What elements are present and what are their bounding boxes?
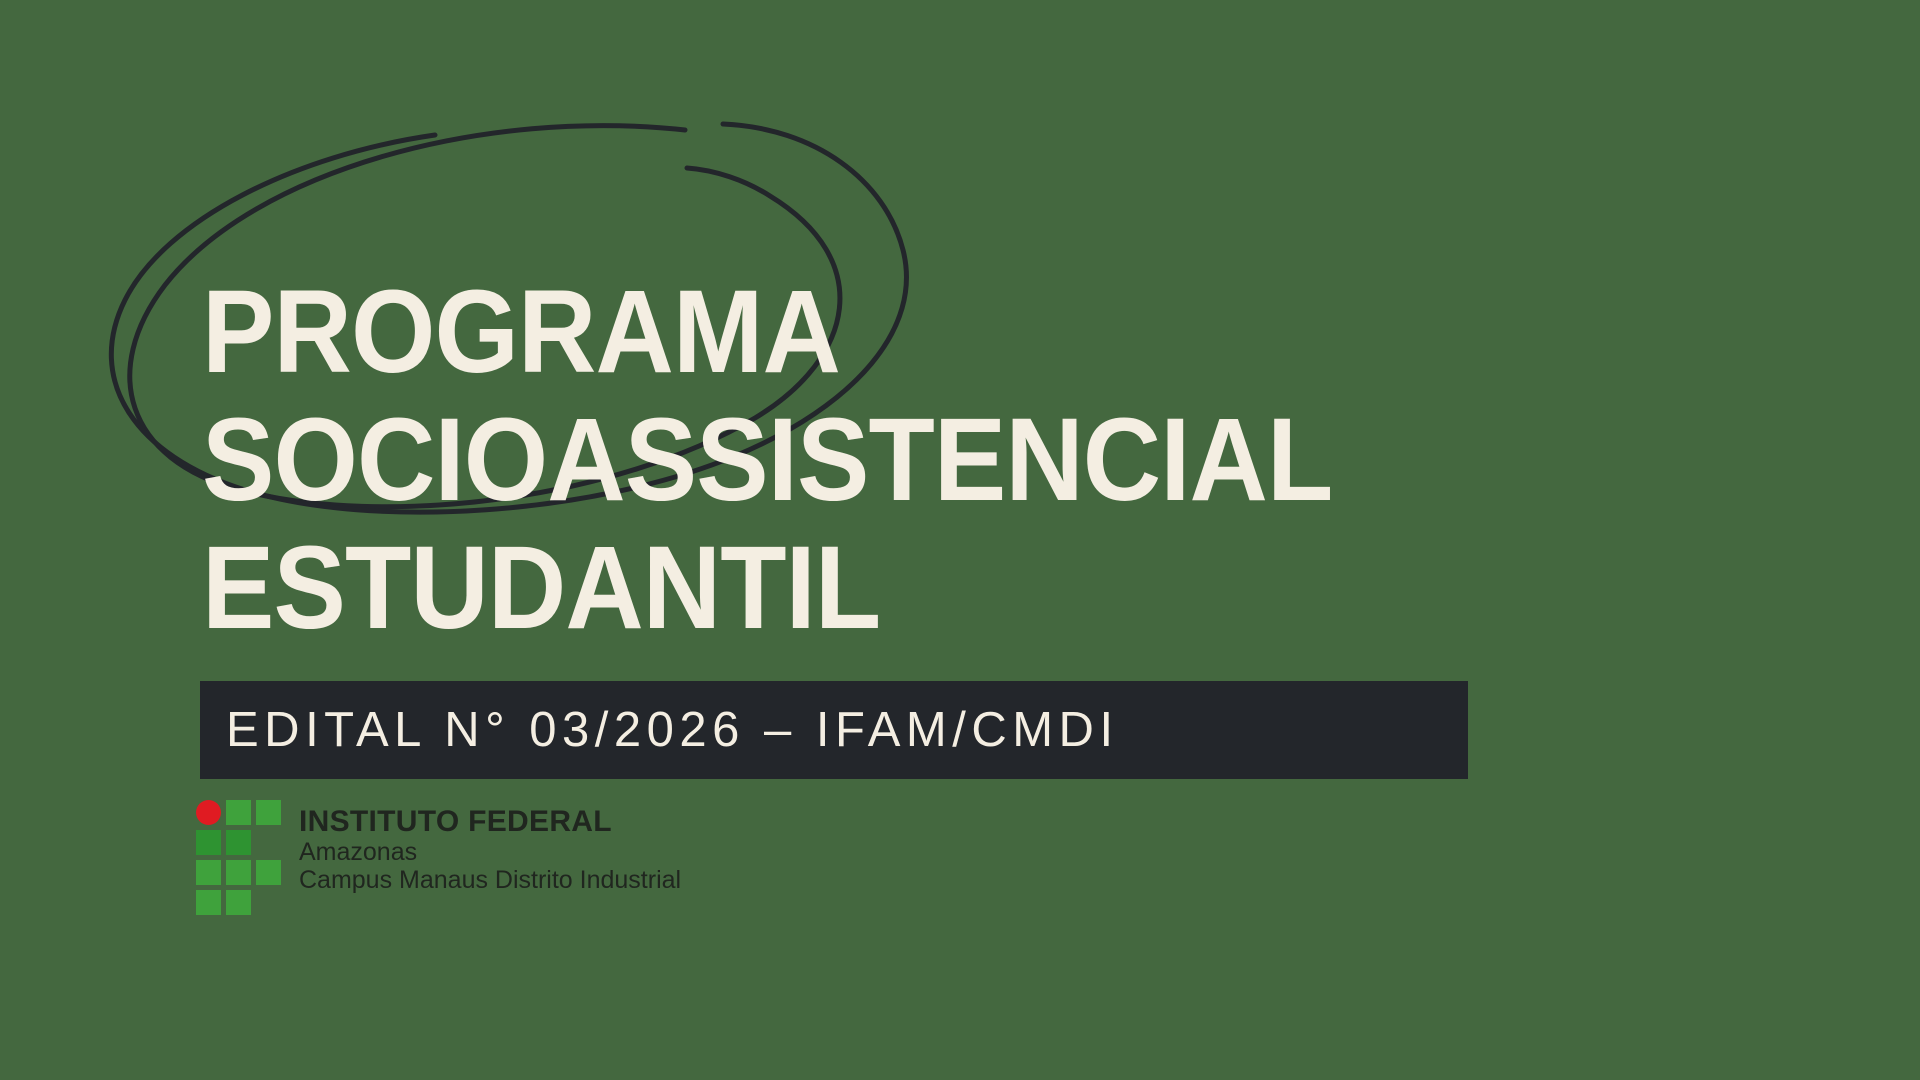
logo-text-block: INSTITUTO FEDERAL Amazonas Campus Manaus… xyxy=(299,800,681,894)
logo-cell-green xyxy=(196,860,221,885)
logo-state-name: Amazonas xyxy=(299,838,681,866)
logo-cell-green xyxy=(226,830,251,855)
logo-cell-green xyxy=(256,860,281,885)
logo-cell-empty xyxy=(256,890,281,915)
edital-number-text: EDITAL N° 03/2026 – IFAM/CMDI xyxy=(200,702,1119,758)
logo-cell-green xyxy=(226,890,251,915)
logo-grid-icon xyxy=(196,800,281,915)
logo-cell-green xyxy=(196,830,221,855)
logo-cell-red-circle xyxy=(196,800,221,825)
title-line-3: ESTUDANTIL xyxy=(202,524,1536,652)
slide-canvas: PROGRAMA SOCIOASSISTENCIAL ESTUDANTIL ED… xyxy=(0,0,1920,1080)
title-line-1: PROGRAMA xyxy=(202,268,1536,396)
logo-cell-green xyxy=(196,890,221,915)
logo-campus-name: Campus Manaus Distrito Industrial xyxy=(299,866,681,894)
title-line-2: SOCIOASSISTENCIAL xyxy=(202,396,1536,524)
logo-cell-green xyxy=(256,800,281,825)
page-title: PROGRAMA SOCIOASSISTENCIAL ESTUDANTIL xyxy=(202,268,1652,652)
logo-institution-name: INSTITUTO FEDERAL xyxy=(299,806,681,838)
logo-cell-empty xyxy=(256,830,281,855)
ifam-logo: INSTITUTO FEDERAL Amazonas Campus Manaus… xyxy=(196,800,681,915)
logo-cell-green xyxy=(226,800,251,825)
edital-banner: EDITAL N° 03/2026 – IFAM/CMDI xyxy=(200,681,1468,779)
logo-cell-green xyxy=(226,860,251,885)
